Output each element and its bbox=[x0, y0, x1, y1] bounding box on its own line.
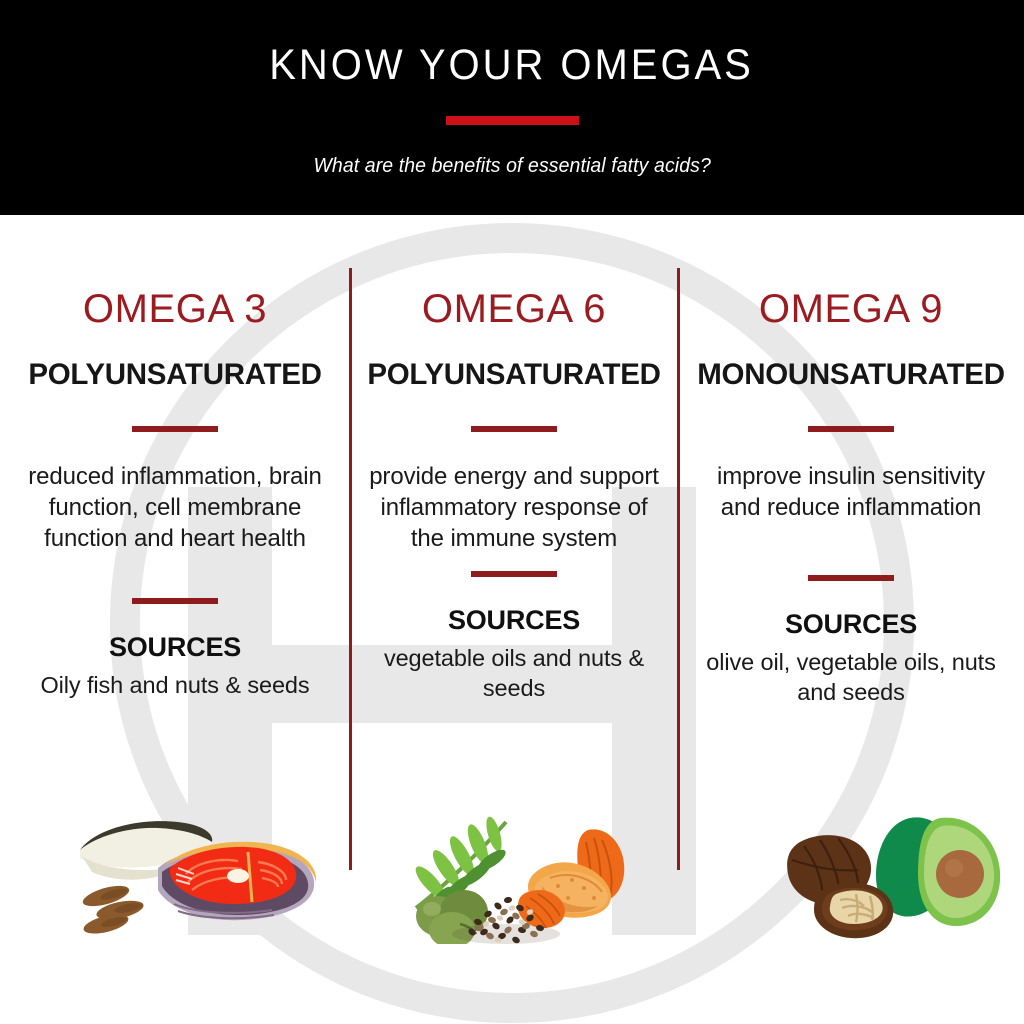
omega-9-sources-rule bbox=[808, 575, 894, 581]
omega-3-sources-text: Oily fish and nuts & seeds bbox=[40, 670, 309, 700]
page-subtitle: What are the benefits of essential fatty… bbox=[313, 154, 710, 178]
omega-9-title: OMEGA 9 bbox=[759, 289, 943, 329]
header-banner: KNOW YOUR OMEGAS What are the benefits o… bbox=[0, 0, 1024, 215]
omega-9-sources-label: SOURCES bbox=[785, 611, 917, 638]
omega-6-benefits-rule bbox=[471, 426, 557, 432]
column-divider-right bbox=[677, 268, 680, 870]
omega-6-benefits: provide energy and support inflammatory … bbox=[364, 461, 664, 555]
omega-6-sources-text: vegetable oils and nuts & seeds bbox=[364, 643, 664, 703]
omega-9-benefits-rule bbox=[808, 426, 894, 432]
column-divider-left bbox=[349, 268, 352, 870]
omega-9-fat-type: MONOUNSATURATED bbox=[697, 360, 1004, 390]
omega-6-sources-label: SOURCES bbox=[448, 607, 580, 634]
omega-3-sources-label: SOURCES bbox=[109, 634, 241, 661]
omega-3-sources-rule bbox=[132, 598, 218, 604]
omega-9-sources-text: olive oil, vegetable oils, nuts and seed… bbox=[693, 647, 1009, 707]
walnuts-and-avocado-icon bbox=[782, 812, 1012, 940]
olives-almonds-and-chia-seeds-icon bbox=[402, 812, 656, 944]
omega-3-fat-type: POLYUNSATURATED bbox=[28, 360, 321, 390]
salmon-steak-white-fish-and-seeds-icon bbox=[62, 812, 338, 942]
omega-6-sources-rule bbox=[471, 571, 557, 577]
omega-9-benefits: improve insulin sensitivity and reduce i… bbox=[695, 461, 1007, 523]
omega-3-title: OMEGA 3 bbox=[83, 289, 267, 329]
omega-3-benefits: reduced inflammation, brain function, ce… bbox=[8, 461, 342, 555]
page-title: KNOW YOUR OMEGAS bbox=[270, 44, 755, 87]
header-accent-rule bbox=[446, 116, 579, 125]
omega-3-benefits-rule bbox=[132, 426, 218, 432]
omega-6-title: OMEGA 6 bbox=[422, 289, 606, 329]
omega-6-fat-type: POLYUNSATURATED bbox=[367, 360, 660, 390]
omegas-infographic: KNOW YOUR OMEGAS What are the benefits o… bbox=[0, 0, 1024, 1024]
